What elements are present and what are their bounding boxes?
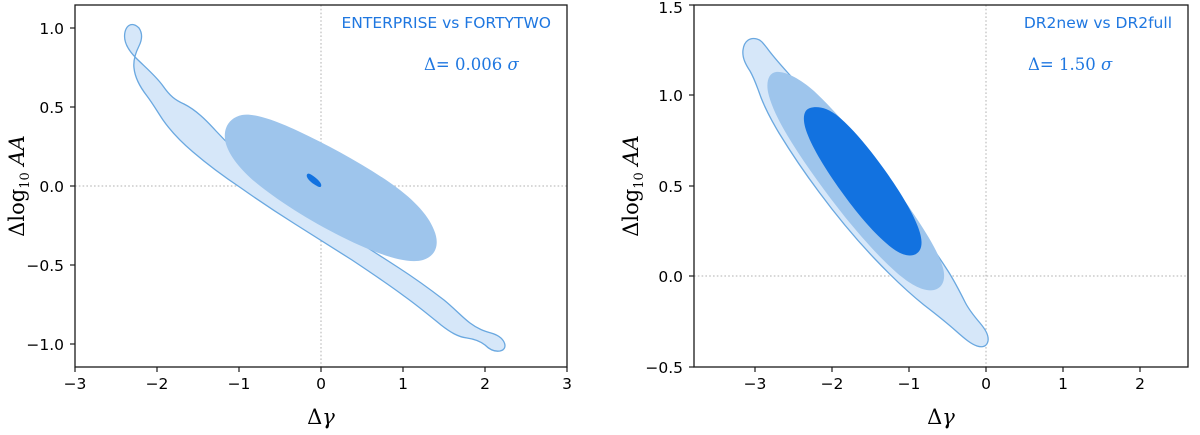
annotation-delta-unit: σ xyxy=(507,55,519,74)
left-panel-svg: −3 −2 −1 0 1 2 3 −1.0 −0.5 0.0 0.5 xyxy=(0,0,600,435)
yaxis-ticklabels-right: −0.5 0.0 0.5 1.0 1.5 xyxy=(645,0,683,377)
ytick-label: 1.0 xyxy=(658,87,683,105)
xaxis-ticks-right xyxy=(755,367,1140,372)
annotation-title-right: DR2new vs DR2full xyxy=(1024,14,1172,32)
yaxis-title-left: Δlog10 AA xyxy=(5,135,33,237)
xaxis-ticklabels-right: −3 −2 −1 0 1 2 xyxy=(744,375,1145,393)
annotation-delta-symbol: Δ xyxy=(424,55,436,74)
xaxis-ticklabels-left: −3 −2 −1 0 1 2 3 xyxy=(64,375,572,393)
right-panel-svg: −3 −2 −1 0 1 2 −0.5 0.0 0.5 1.0 1.5 xyxy=(600,0,1200,435)
yaxis-title-sub: 10 xyxy=(632,172,647,189)
annotation-delta-symbol: Δ xyxy=(1028,55,1040,74)
xaxis-ticks-left xyxy=(75,367,567,372)
yaxis-title-sub: 10 xyxy=(18,172,33,189)
ytick-label: 0.5 xyxy=(658,178,683,196)
annotation-delta-equals: = xyxy=(436,55,455,74)
annotation-delta-unit: σ xyxy=(1101,55,1113,74)
contour-group-right xyxy=(743,38,988,346)
yaxis-title-var: AA xyxy=(619,135,643,172)
xtick-label: 3 xyxy=(562,375,572,393)
ytick-label: −0.5 xyxy=(26,257,64,275)
annotation-delta-value: 1.50 xyxy=(1059,55,1101,74)
chart-panel-left: −3 −2 −1 0 1 2 3 −1.0 −0.5 0.0 0.5 xyxy=(0,0,600,435)
chart-panel-right: −3 −2 −1 0 1 2 −0.5 0.0 0.5 1.0 1.5 xyxy=(600,0,1200,435)
annotation-delta-right: Δ= 1.50 σ xyxy=(1028,55,1113,74)
yaxis-title-var: AA xyxy=(5,135,29,172)
xtick-label: −2 xyxy=(146,375,169,393)
yaxis-title-delta: Δ xyxy=(619,222,643,237)
xtick-label: 0 xyxy=(316,375,326,393)
yaxis-title-base: log xyxy=(619,189,643,222)
yaxis-title-right: Δlog10 AA xyxy=(619,135,647,237)
yaxis-ticks-left xyxy=(70,28,75,344)
xaxis-title-delta: Δ xyxy=(307,405,322,429)
xtick-label: −1 xyxy=(228,375,251,393)
ytick-label: −1.0 xyxy=(26,336,64,354)
ytick-label: −0.5 xyxy=(645,359,683,377)
yaxis-title-delta: Δ xyxy=(5,222,29,237)
yaxis-ticks-right xyxy=(689,5,694,367)
xaxis-title-right: Δγ xyxy=(927,405,955,429)
xtick-label: 2 xyxy=(1135,375,1145,393)
xaxis-title-var: γ xyxy=(942,405,955,429)
xaxis-title-var: γ xyxy=(322,405,335,429)
ytick-label: 0.5 xyxy=(39,99,64,117)
xtick-label: −3 xyxy=(64,375,87,393)
annotation-title-left: ENTERPRISE vs FORTYTWO xyxy=(341,14,551,32)
ytick-label: 0.0 xyxy=(39,178,64,196)
annotation-delta-value: 0.006 xyxy=(455,55,507,74)
xtick-label: −1 xyxy=(898,375,921,393)
xtick-label: 1 xyxy=(1058,375,1068,393)
xtick-label: −3 xyxy=(744,375,767,393)
annotation-delta-left: Δ= 0.006 σ xyxy=(424,55,519,74)
xaxis-title-left: Δγ xyxy=(307,405,335,429)
ytick-label: 1.5 xyxy=(658,0,683,17)
xtick-label: −2 xyxy=(821,375,844,393)
xtick-label: 1 xyxy=(398,375,408,393)
annotation-delta-equals: = xyxy=(1040,55,1059,74)
xtick-label: 0 xyxy=(981,375,991,393)
figure-canvas: −3 −2 −1 0 1 2 3 −1.0 −0.5 0.0 0.5 xyxy=(0,0,1200,435)
xtick-label: 2 xyxy=(480,375,490,393)
xaxis-title-delta: Δ xyxy=(927,405,942,429)
yaxis-title-base: log xyxy=(5,189,29,222)
ytick-label: 1.0 xyxy=(39,20,64,38)
ytick-label: 0.0 xyxy=(658,268,683,286)
